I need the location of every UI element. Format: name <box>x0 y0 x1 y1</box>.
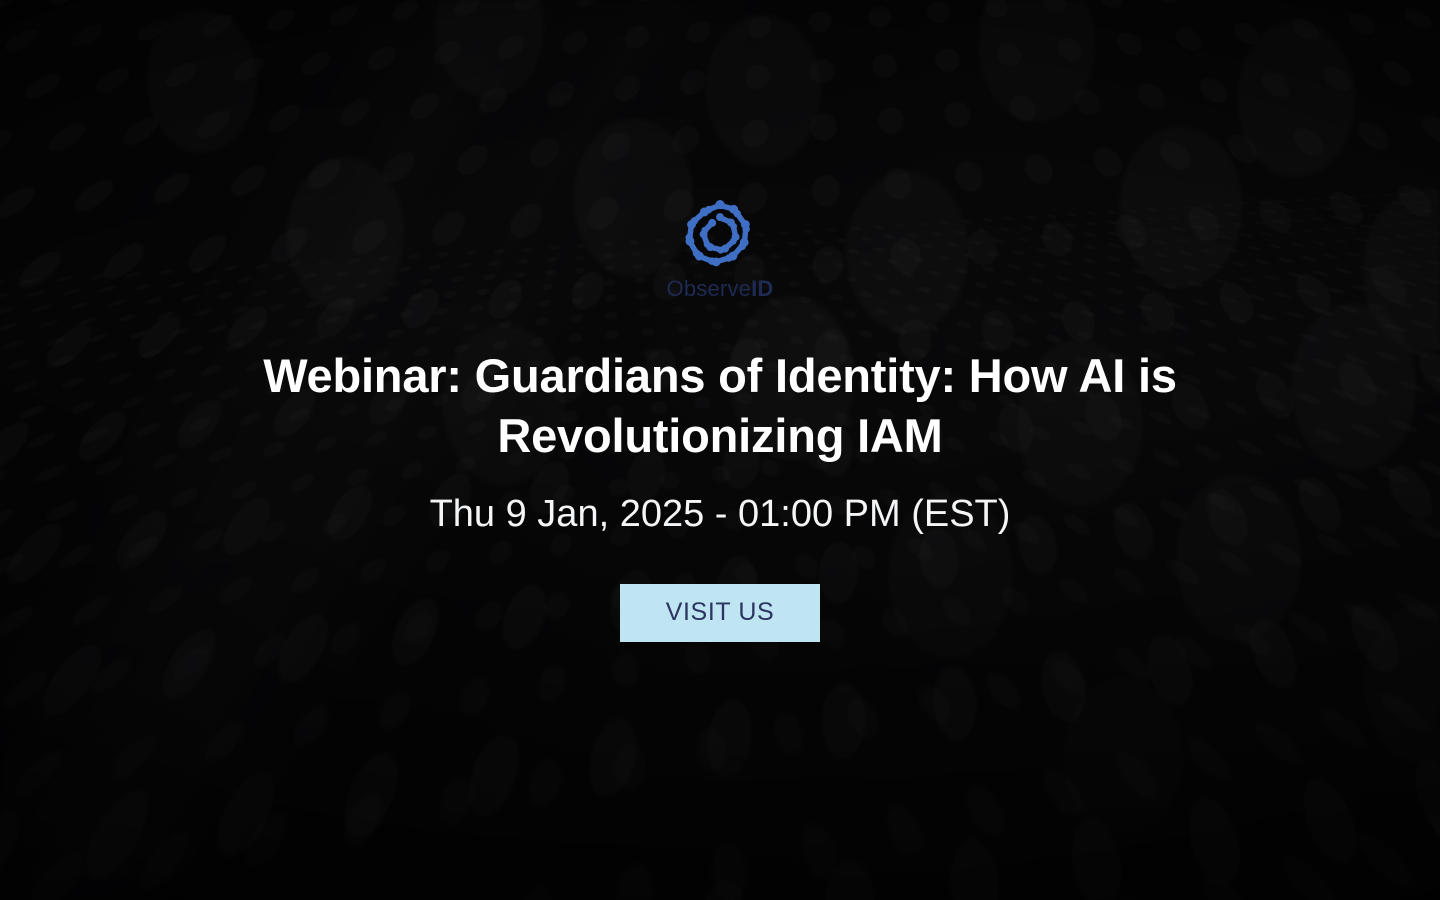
page-title: Webinar: Guardians of Identity: How AI i… <box>190 346 1250 466</box>
wordmark-light: Observe <box>667 276 752 301</box>
wordmark-bold: ID <box>751 276 773 301</box>
observeid-node-ring-icon <box>681 196 759 274</box>
event-datetime: Thu 9 Jan, 2025 - 01:00 PM (EST) <box>430 492 1011 538</box>
cta-container: VISIT US <box>620 584 820 642</box>
visit-us-button[interactable]: VISIT US <box>620 584 820 642</box>
banner-content: ObserveID Webinar: Guardians of Identity… <box>0 0 1440 900</box>
webinar-promo-banner: ObserveID Webinar: Guardians of Identity… <box>0 0 1440 900</box>
brand-logo: ObserveID <box>667 196 774 300</box>
brand-wordmark: ObserveID <box>667 278 774 300</box>
